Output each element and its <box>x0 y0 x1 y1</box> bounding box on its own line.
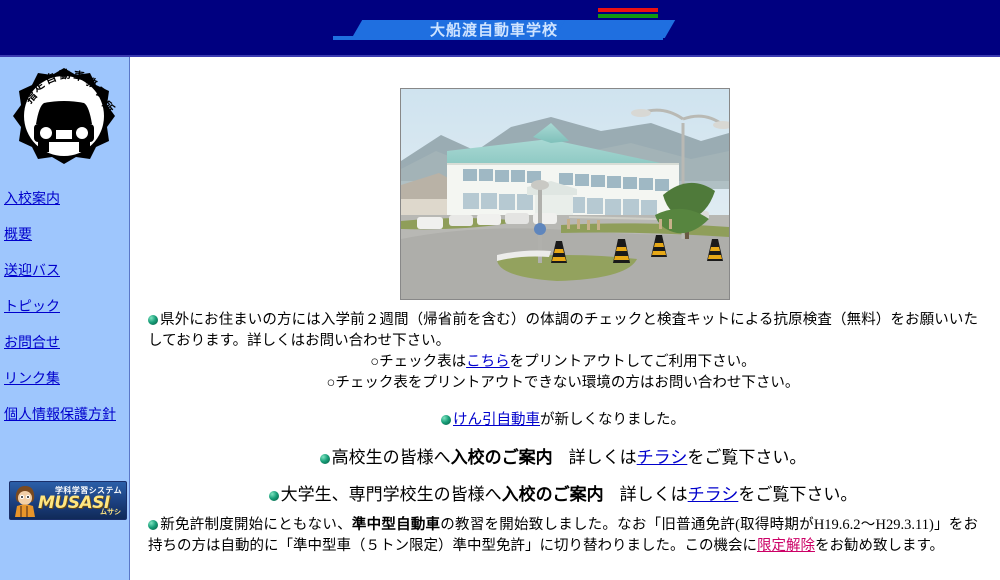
stripe-green <box>598 14 658 18</box>
sidebar-item-admission[interactable]: 入校案内 <box>4 191 129 207</box>
page-body: 指 定 自 動 車 教 習 所 <box>0 57 1000 580</box>
site-header: 大船渡自動車学校 <box>0 0 1000 57</box>
sidebar-item-contact[interactable]: お問合せ <box>4 335 129 351</box>
spacer-3 <box>144 468 982 484</box>
announcements: 県外にお住まいの方には入学前２週間（帰省前を含む）の体調のチェックと検査キットに… <box>130 300 1000 557</box>
school-building-photo <box>400 88 730 300</box>
bullet-ball-icon <box>441 415 451 425</box>
musasi-logo-text: MUSASI <box>38 493 110 513</box>
limit-release-link[interactable]: 限定解除 <box>757 538 815 554</box>
svg-text:車: 車 <box>73 68 86 83</box>
bullet-ball-icon <box>148 315 158 325</box>
sidebar-item-overview[interactable]: 概要 <box>4 227 129 243</box>
school-logo: 指 定 自 動 車 教 習 所 <box>0 57 129 187</box>
musasi-mascot-icon <box>12 484 38 517</box>
designated-driving-school-seal-icon: 指 定 自 動 車 教 習 所 <box>8 62 120 182</box>
spacer-4 <box>144 505 982 515</box>
school-building-illustration <box>401 89 729 299</box>
semi-medium-vehicle-label: 準中型自動車 <box>352 517 440 533</box>
notice-antigen-line3: ○チェック表をプリントアウトできない環境の方はお問い合わせ下さい。 <box>144 373 982 394</box>
notice-license: 新免許制度開始にともない、準中型自動車の教習を開始致しました。なお「旧普通免許(… <box>144 515 982 557</box>
sidebar-item-shuttle-bus[interactable]: 送迎バス <box>4 263 129 279</box>
main-content: 県外にお住まいの方には入学前２週間（帰省前を含む）の体調のチェックと検査キットに… <box>130 57 1000 580</box>
spacer-2 <box>144 431 982 447</box>
notice-antigen-line2: ○チェック表はこちらをプリントアウトしてご利用下さい。 <box>144 352 982 373</box>
sidebar-item-links[interactable]: リンク集 <box>4 371 129 387</box>
site-title: 大船渡自動車学校 <box>430 19 630 40</box>
towing-vehicle-link[interactable]: けん引自動車 <box>453 412 540 428</box>
highschool-flyer-link[interactable]: チラシ <box>637 448 688 467</box>
highschool-guide-label: 入校のご案内 <box>451 448 553 467</box>
sidebar-item-topics[interactable]: トピック <box>4 299 129 315</box>
svg-text:動: 動 <box>58 67 71 82</box>
notice-antigen-line1: 県外にお住まいの方には入学前２週間（帰省前を含む）の体調のチェックと検査キットに… <box>144 310 982 352</box>
university-guide-label: 入校のご案内 <box>502 485 604 504</box>
stripe-red <box>598 8 658 12</box>
bullet-ball-icon <box>148 520 158 530</box>
spacer-1 <box>144 394 982 410</box>
notice-university: 大学生、専門学校生の皆様へ入校のご案内詳しくはチラシをご覧下さい。 <box>144 484 982 505</box>
sidebar-menu: 入校案内 概要 送迎バス トピック お問合せ リンク集 個人情報保護方針 <box>0 187 129 423</box>
sidebar-item-privacy-policy[interactable]: 個人情報保護方針 <box>4 407 129 423</box>
musasi-banner[interactable]: 学科学習システム MUSASI ムサシ <box>9 481 127 520</box>
musasi-kana-text: ムサシ <box>100 507 121 517</box>
bullet-ball-icon <box>320 454 330 464</box>
notice-highschool: 高校生の皆様へ入校のご案内詳しくはチラシをご覧下さい。 <box>144 447 982 468</box>
notice-towing: けん引自動車が新しくなりました。 <box>144 410 982 431</box>
bullet-ball-icon <box>269 491 279 501</box>
university-flyer-link[interactable]: チラシ <box>688 485 739 504</box>
checklist-link[interactable]: こちら <box>466 354 510 370</box>
sidebar: 指 定 自 動 車 教 習 所 <box>0 57 130 580</box>
